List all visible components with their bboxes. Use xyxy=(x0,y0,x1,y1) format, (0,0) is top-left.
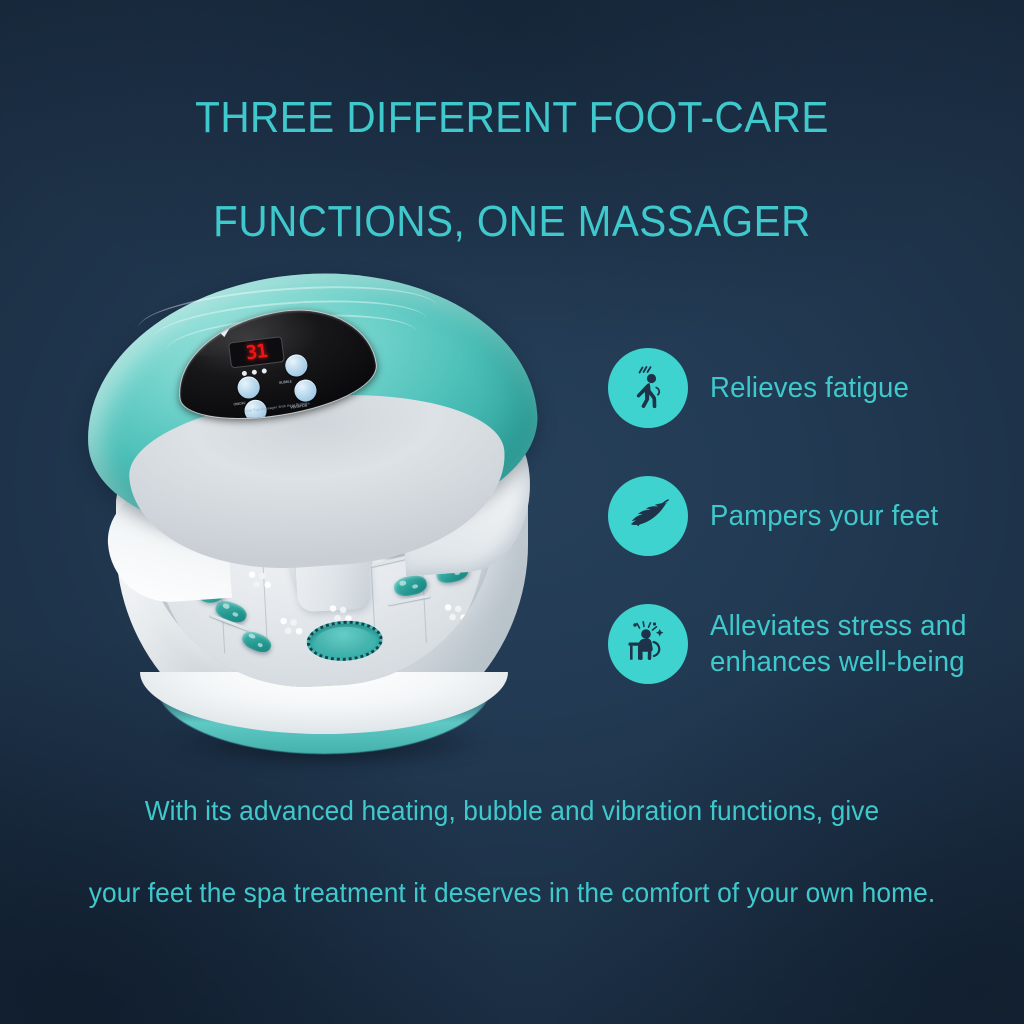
vibration-button[interactable] xyxy=(293,378,318,403)
stressed-person-at-desk-icon xyxy=(608,604,688,684)
feature-item-alleviates-stress: Alleviates stress and enhances well-bein… xyxy=(608,604,1008,684)
bubble-button-label: BUBBLE xyxy=(279,379,292,385)
massage-nubs xyxy=(280,617,305,638)
feature-item-pampers-your-feet: Pampers your feet xyxy=(608,476,1008,556)
caption-line-2: your feet the spa treatment it deserves … xyxy=(31,872,994,913)
massage-nubs xyxy=(445,603,470,624)
status-dot xyxy=(252,369,258,375)
led-display: 31 xyxy=(228,336,285,368)
headline-line-1: THREE DIFFERENT FOOT-CARE xyxy=(41,92,983,144)
feature-item-relieves-fatigue: Relieves fatigue xyxy=(608,348,1008,428)
massage-nubs xyxy=(249,571,272,590)
tired-person-icon xyxy=(608,348,688,428)
feature-label: Relieves fatigue xyxy=(710,370,909,406)
feature-label: Alleviates stress and enhances well-bein… xyxy=(710,608,967,680)
power-button[interactable] xyxy=(236,375,261,400)
led-display-value: 31 xyxy=(245,342,268,363)
page-title: THREE DIFFERENT FOOT-CARE FUNCTIONS, ONE… xyxy=(41,40,983,300)
power-button-label: ON/OFF xyxy=(233,401,245,407)
caption-line-1: With its advanced heating, bubble and vi… xyxy=(31,790,994,831)
footer-caption: With its advanced heating, bubble and vi… xyxy=(31,749,994,954)
brand-logo-icon xyxy=(216,327,231,338)
feature-list: Relieves fatigue Pampers your feet xyxy=(608,348,1008,684)
status-indicator-dots xyxy=(242,368,267,376)
headline-line-2: FUNCTIONS, ONE MASSAGER xyxy=(41,196,983,248)
bubble-button[interactable] xyxy=(284,353,309,378)
status-dot xyxy=(261,368,267,374)
product-image-foot-spa-massager: 31 ON/OFF HEAT BUBBLE VIBRATION Foot Spa… xyxy=(78,268,568,788)
status-dot xyxy=(242,371,248,377)
feather-icon xyxy=(608,476,688,556)
feature-label: Pampers your feet xyxy=(710,498,938,534)
